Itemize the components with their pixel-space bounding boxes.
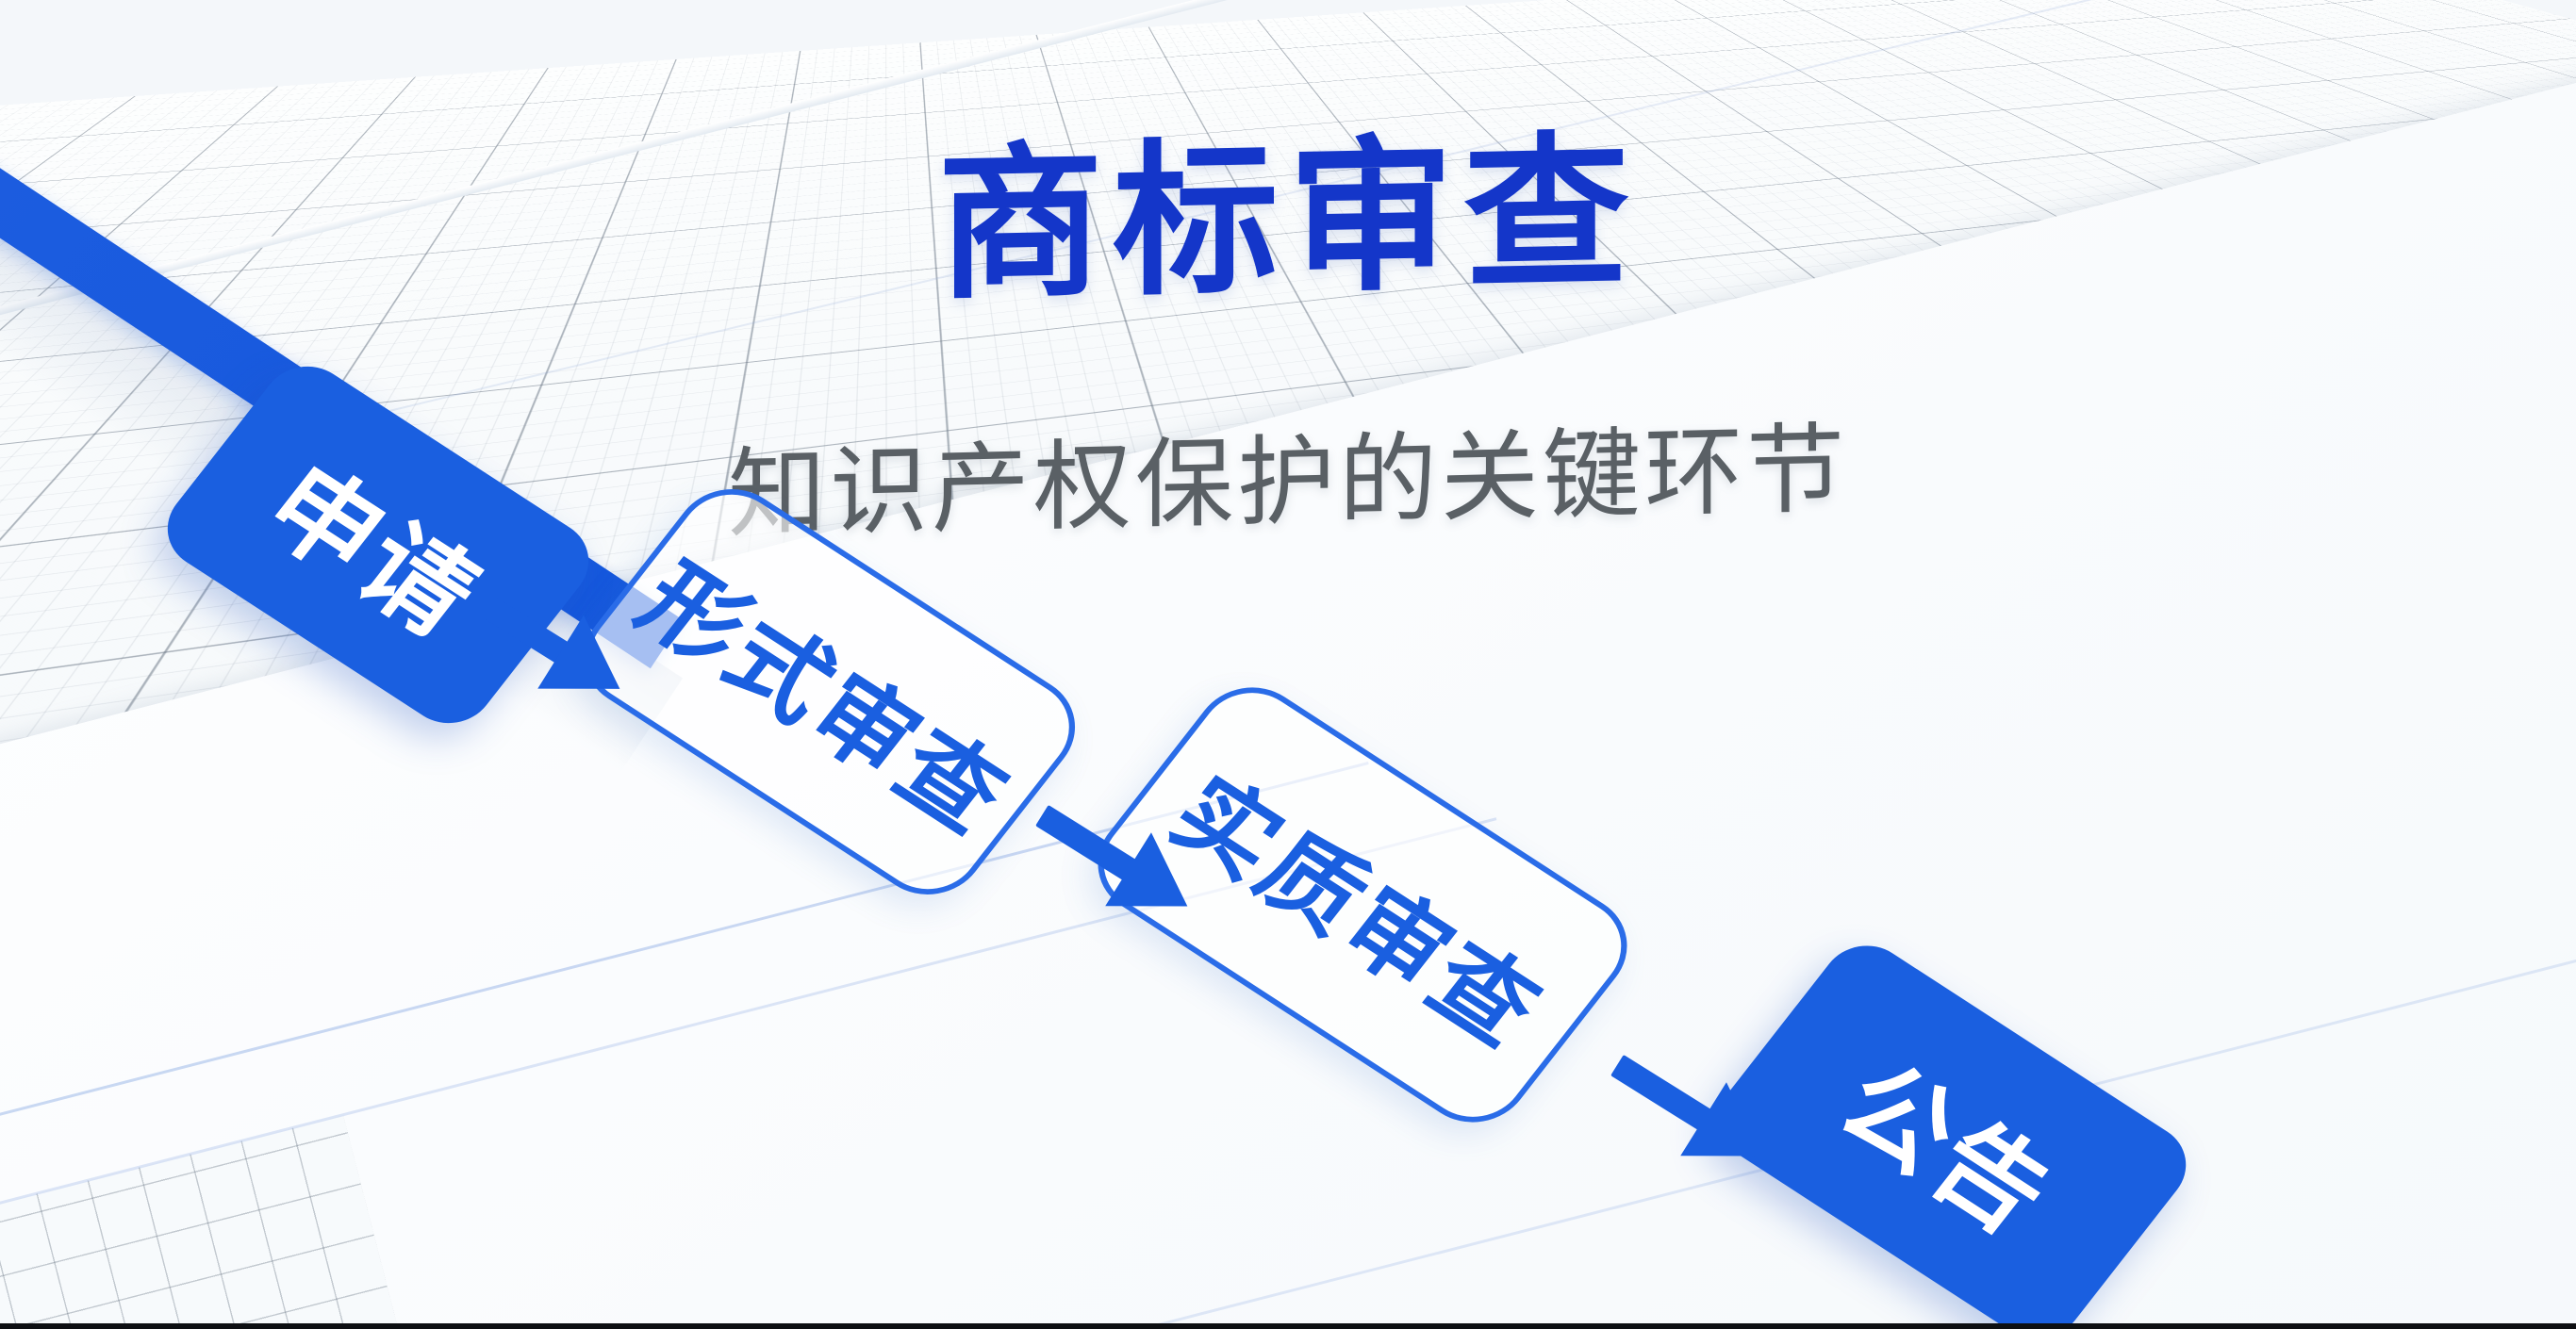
flow-node-label: 公告 bbox=[1813, 1023, 2091, 1263]
poster-canvas: 商标审查 知识产权保护的关键环节 申请 形式审查 实质审查 公告 bbox=[0, 0, 2576, 1329]
bottom-strip bbox=[0, 1323, 2576, 1329]
